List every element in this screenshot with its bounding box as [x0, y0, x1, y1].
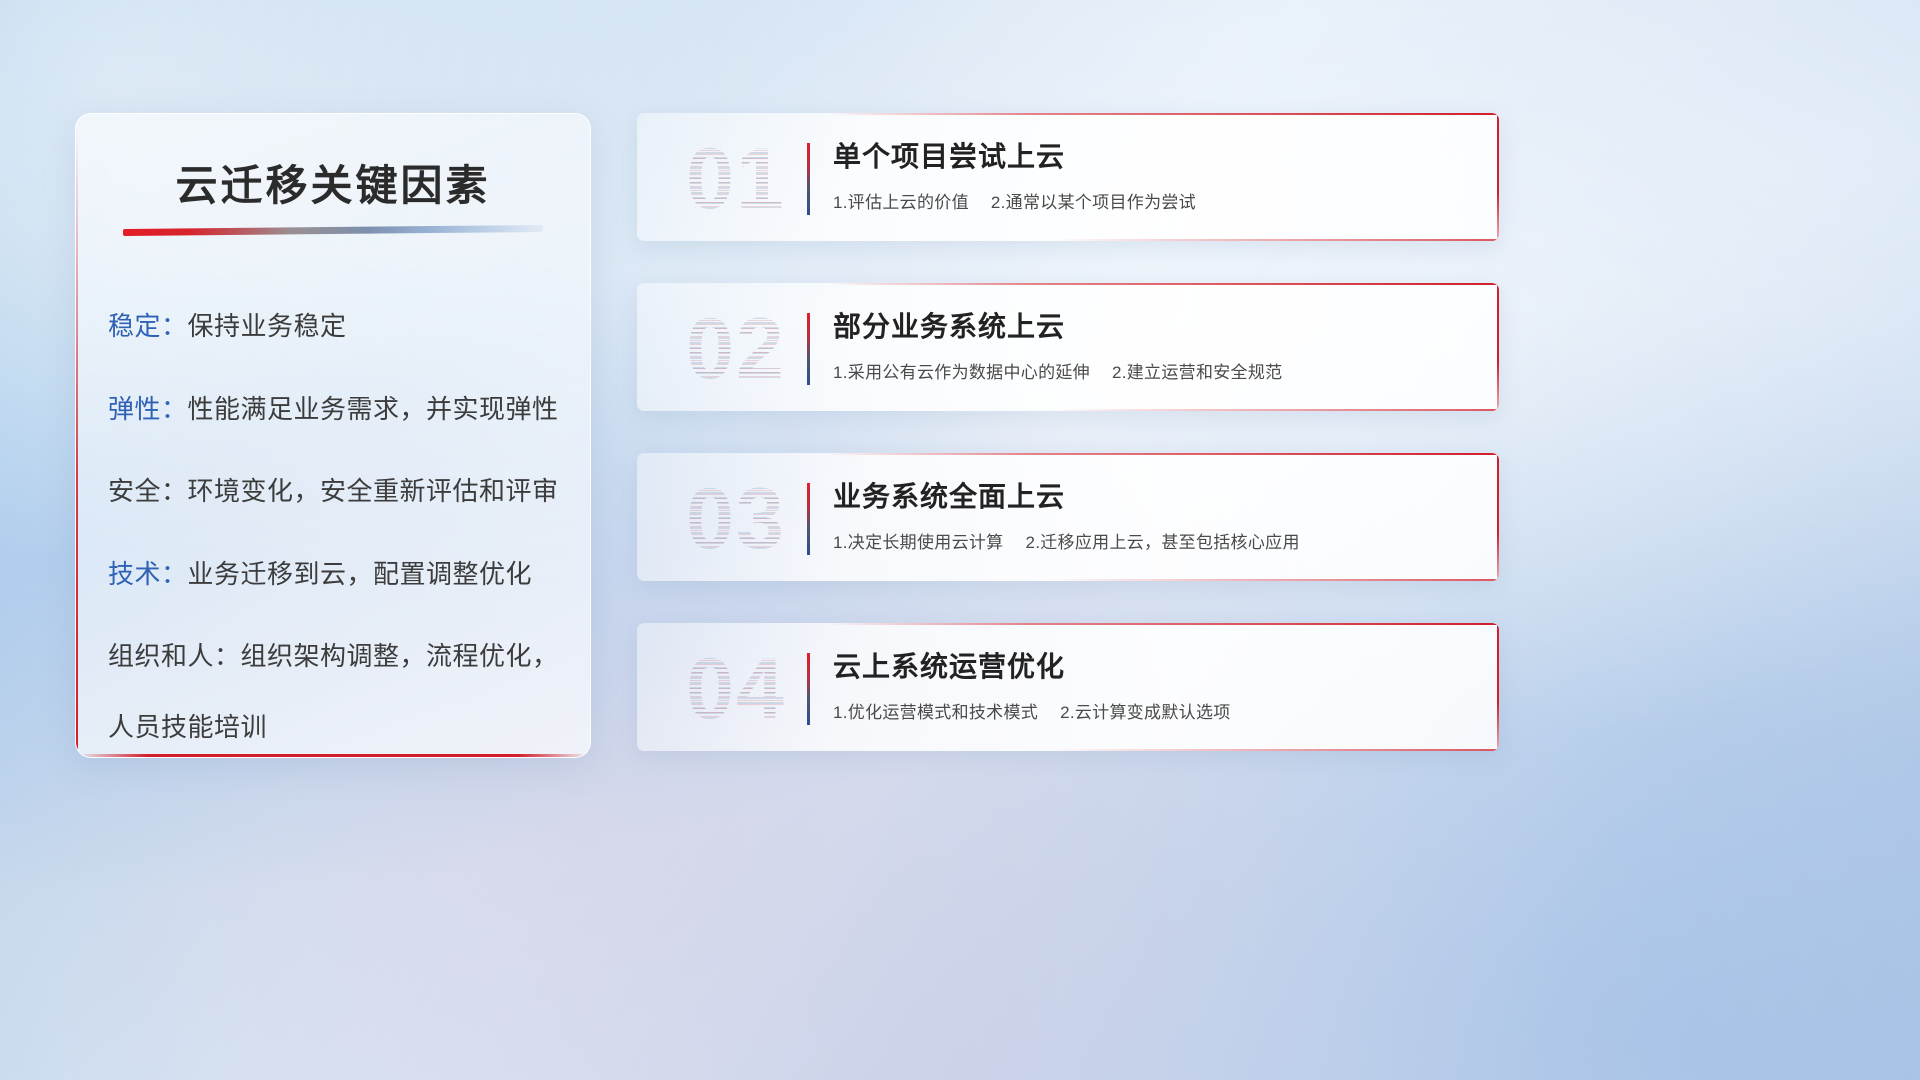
factor-keyword: 弹性：	[108, 394, 188, 424]
factor-keyword: 安全：	[108, 476, 188, 506]
step-description: 1.优化运营模式和技术模式2.云计算变成默认选项	[833, 698, 1469, 723]
step-title: 业务系统全面上云	[833, 479, 1469, 514]
factor-item-organization-people: 组织和人：组织架构调整，流程优化， 人员技能培训	[108, 640, 572, 743]
step-card[interactable]: 02 02 部分业务系统上云 1.采用公有云作为数据中心的延伸2.建立运营和安全…	[637, 283, 1499, 411]
step-point-2: 2.通常以某个项目作为尝试	[991, 193, 1196, 212]
step-point-2: 2.建立运营和安全规范	[1112, 363, 1282, 382]
step-point-1: 1.优化运营模式和技术模式	[833, 703, 1038, 722]
factor-item-stability: 稳定：保持业务稳定	[108, 310, 572, 343]
step-description: 1.采用公有云作为数据中心的延伸2.建立运营和安全规范	[833, 358, 1469, 383]
card-accent-right	[1497, 283, 1499, 411]
card-accent-right	[1497, 453, 1499, 581]
factor-text: 保持业务稳定	[188, 311, 347, 341]
key-factors-panel: 云迁移关键因素 稳定：保持业务稳定 弹性：性能满足业务需求，并实现弹性 安全：环…	[75, 113, 591, 758]
step-number-watermark-tint: 03	[661, 467, 811, 571]
step-number-watermark-tint: 01	[661, 127, 811, 231]
title-underline-gradient	[123, 225, 543, 236]
page-title: 云迁移关键因素	[76, 152, 590, 213]
step-content: 单个项目尝试上云 1.评估上云的价值2.通常以某个项目作为尝试	[833, 139, 1469, 213]
factor-item-security: 安全：环境变化，安全重新评估和评审	[108, 475, 572, 508]
card-accent-bottom	[1051, 239, 1499, 241]
step-description: 1.决定长期使用云计算2.迁移应用上云，甚至包括核心应用	[833, 528, 1469, 553]
card-accent-bottom	[1051, 579, 1499, 581]
step-content: 业务系统全面上云 1.决定长期使用云计算2.迁移应用上云，甚至包括核心应用	[833, 479, 1469, 553]
factor-text: 环境变化，安全重新评估和评审	[188, 476, 559, 506]
step-card[interactable]: 04 04 云上系统运营优化 1.优化运营模式和技术模式2.云计算变成默认选项	[637, 623, 1499, 751]
step-content: 云上系统运营优化 1.优化运营模式和技术模式2.云计算变成默认选项	[833, 649, 1469, 723]
card-accent-bottom	[1051, 749, 1499, 751]
step-divider-bar	[807, 483, 810, 555]
migration-steps-list: 01 01 单个项目尝试上云 1.评估上云的价值2.通常以某个项目作为尝试 02…	[637, 113, 1499, 793]
factor-text: 组织架构调整，流程优化，	[241, 641, 559, 671]
step-point-2: 2.迁移应用上云，甚至包括核心应用	[1025, 533, 1299, 552]
factor-keyword: 技术：	[108, 559, 188, 589]
factor-text-line2: 人员技能培训	[108, 711, 572, 744]
step-point-2: 2.云计算变成默认选项	[1060, 703, 1230, 722]
step-card[interactable]: 03 03 业务系统全面上云 1.决定长期使用云计算2.迁移应用上云，甚至包括核…	[637, 453, 1499, 581]
step-card[interactable]: 01 01 单个项目尝试上云 1.评估上云的价值2.通常以某个项目作为尝试	[637, 113, 1499, 241]
step-divider-bar	[807, 143, 810, 215]
step-divider-bar	[807, 653, 810, 725]
step-divider-bar	[807, 313, 810, 385]
factor-text: 性能满足业务需求，并实现弹性	[188, 394, 559, 424]
step-point-1: 1.评估上云的价值	[833, 193, 969, 212]
step-title: 部分业务系统上云	[833, 309, 1469, 344]
card-accent-top	[827, 283, 1499, 285]
factor-keyword: 组织和人：	[108, 641, 241, 671]
factor-text: 业务迁移到云，配置调整优化	[188, 559, 533, 589]
card-accent-bottom	[1051, 409, 1499, 411]
step-title: 单个项目尝试上云	[833, 139, 1469, 174]
card-accent-top	[827, 453, 1499, 455]
step-point-1: 1.采用公有云作为数据中心的延伸	[833, 363, 1090, 382]
step-point-1: 1.决定长期使用云计算	[833, 533, 1003, 552]
step-number-watermark-tint: 02	[661, 297, 811, 401]
step-title: 云上系统运营优化	[833, 649, 1469, 684]
factor-keyword: 稳定：	[108, 311, 188, 341]
factor-item-technology: 技术：业务迁移到云，配置调整优化	[108, 558, 572, 591]
card-accent-top	[827, 623, 1499, 625]
factor-item-elasticity: 弹性：性能满足业务需求，并实现弹性	[108, 393, 572, 426]
card-accent-right	[1497, 623, 1499, 751]
step-content: 部分业务系统上云 1.采用公有云作为数据中心的延伸2.建立运营和安全规范	[833, 309, 1469, 383]
step-number-watermark-tint: 04	[661, 637, 811, 741]
step-description: 1.评估上云的价值2.通常以某个项目作为尝试	[833, 188, 1469, 213]
card-accent-top	[827, 113, 1499, 115]
factor-list: 稳定：保持业务稳定 弹性：性能满足业务需求，并实现弹性 安全：环境变化，安全重新…	[108, 310, 572, 758]
card-accent-right	[1497, 113, 1499, 241]
